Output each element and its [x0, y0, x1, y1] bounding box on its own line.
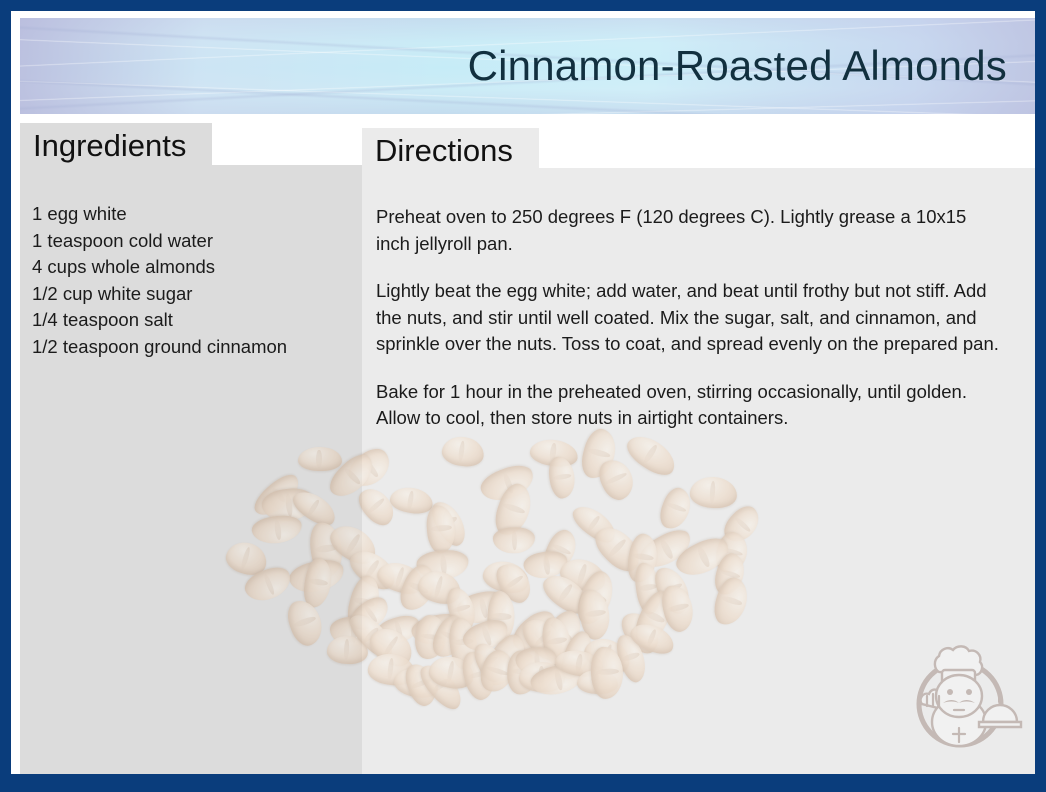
ingredients-panel: Ingredients 1 egg white 1 teaspoon cold …: [20, 165, 364, 774]
ingredient-item: 1 teaspoon cold water: [32, 228, 287, 255]
ingredients-list: 1 egg white 1 teaspoon cold water 4 cups…: [32, 201, 287, 360]
ingredient-item: 1/2 cup white sugar: [32, 281, 287, 308]
recipe-card: Cinnamon-Roasted Almonds Ingredients 1 e…: [0, 0, 1046, 792]
chef-with-serving-dome-logo: [897, 630, 1023, 752]
ingredient-item: 1 egg white: [32, 201, 287, 228]
ingredient-item: 1/2 teaspoon ground cinnamon: [32, 334, 287, 361]
directions-paragraph: Preheat oven to 250 degrees F (120 degre…: [376, 204, 1004, 257]
directions-heading: Directions: [375, 133, 513, 169]
directions-heading-tab: Directions: [362, 128, 539, 170]
ingredients-heading: Ingredients: [33, 128, 186, 164]
directions-paragraph: Lightly beat the egg white; add water, a…: [376, 278, 1004, 358]
ingredient-item: 4 cups whole almonds: [32, 254, 287, 281]
header-banner: Cinnamon-Roasted Almonds: [20, 18, 1035, 114]
card-inner-surface: Cinnamon-Roasted Almonds Ingredients 1 e…: [11, 11, 1035, 774]
directions-body: Preheat oven to 250 degrees F (120 degre…: [376, 204, 1004, 453]
ingredients-heading-tab: Ingredients: [20, 123, 212, 165]
page-title: Cinnamon-Roasted Almonds: [468, 42, 1007, 90]
ingredient-item: 1/4 teaspoon salt: [32, 307, 287, 334]
directions-paragraph: Bake for 1 hour in the preheated oven, s…: [376, 379, 1004, 432]
